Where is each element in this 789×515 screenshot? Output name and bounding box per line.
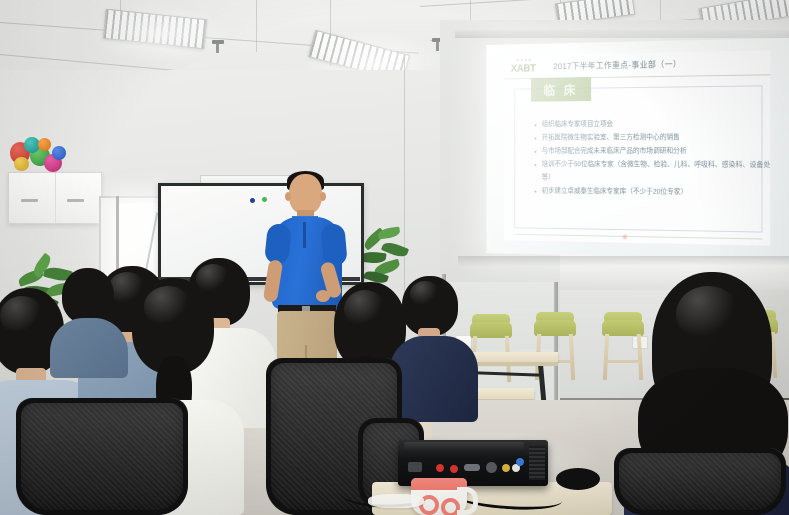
- cable-coil: [556, 468, 600, 490]
- presenter-head: [289, 174, 322, 214]
- screen-bottom-shadow: [458, 256, 789, 266]
- wall-cabinet: [8, 172, 102, 224]
- projector-vent: [529, 446, 545, 480]
- projector-svideo-port[interactable]: [486, 462, 497, 473]
- presenter-ear-left: [285, 192, 291, 201]
- slide-bullet-4: 培训不少于50位临床专家（含微生物、检验、儿科、呼吸科、感染科、设备处等）: [535, 158, 772, 186]
- presenter-sleeve-right: [320, 223, 348, 267]
- office-chair-left: [16, 398, 188, 515]
- slide-header-title: 2017下半年工作重点-事业部（一）: [553, 58, 681, 72]
- presentation-slide: ★★★★ XABT 2017下半年工作重点-事业部（一） 临 床 组织临床专家项…: [504, 50, 771, 245]
- slide-bullet-1: 组织临床专家项目立项会: [535, 116, 762, 131]
- slide-bullet-2: 开拓医院微生物实验室、第三方检测中心的销售: [535, 130, 762, 144]
- presenter-ear-right: [320, 192, 326, 201]
- slide-section-chip: 临 床: [531, 77, 591, 102]
- slide-bullet-list: 组织临床专家项目立项会 开拓医院微生物实验室、第三方检测中心的销售 与市场部配合…: [535, 116, 762, 200]
- projection-screen-housing: [455, 30, 789, 38]
- decoration-ball-orange: [38, 138, 51, 151]
- attendee-man-back-left: [54, 268, 124, 358]
- projector-rca-blue[interactable]: [516, 458, 524, 466]
- meeting-room-photo: ★★★★ XABT 2017下半年工作重点-事业部（一） 临 床 组织临床专家项…: [0, 0, 789, 515]
- projection-screen: ★★★★ XABT 2017下半年工作重点-事业部（一） 临 床 组织临床专家项…: [486, 38, 789, 260]
- cabinet-door-divider: [55, 173, 56, 223]
- sprinkler-head: [212, 40, 224, 44]
- mug-handle: [457, 487, 478, 515]
- slide-header: ★★★★ XABT 2017下半年工作重点-事业部（一）: [504, 50, 771, 79]
- whiteboard-magnet-blue: [250, 198, 255, 203]
- decoration-ball-yellow: [14, 157, 29, 171]
- cabinet-handle-left[interactable]: [21, 199, 38, 202]
- office-chair-right: [614, 448, 786, 515]
- logo-stars: ★★★★: [516, 57, 532, 62]
- slide-bullet-5: 初步建立卓威泰生临床专家库（不少于20位专家）: [535, 184, 762, 200]
- slide-bullet-3: 与市场部配合完成未来临床产品的市场调研和分析: [535, 144, 762, 158]
- projector-top-panel: [404, 442, 524, 450]
- projector-vga-port[interactable]: [464, 464, 480, 471]
- saucer-plate: [368, 494, 424, 508]
- slide-content-box: 临 床 组织临床专家项目立项会 开拓医院微生物实验室、第三方检测中心的销售 与市…: [514, 85, 762, 232]
- logo-text: XABT: [511, 63, 536, 75]
- presenter-shirt-placket: [303, 222, 306, 248]
- projector-rca-red-2[interactable]: [450, 465, 458, 473]
- cabinet-handle-right[interactable]: [67, 199, 84, 202]
- slide-footer-rule: [514, 234, 762, 240]
- attendee-man-navy: [396, 276, 474, 406]
- decoration-ball-blue: [52, 146, 66, 160]
- xabt-logo: ★★★★ XABT: [511, 59, 541, 75]
- projector-rca-yellow[interactable]: [502, 464, 510, 472]
